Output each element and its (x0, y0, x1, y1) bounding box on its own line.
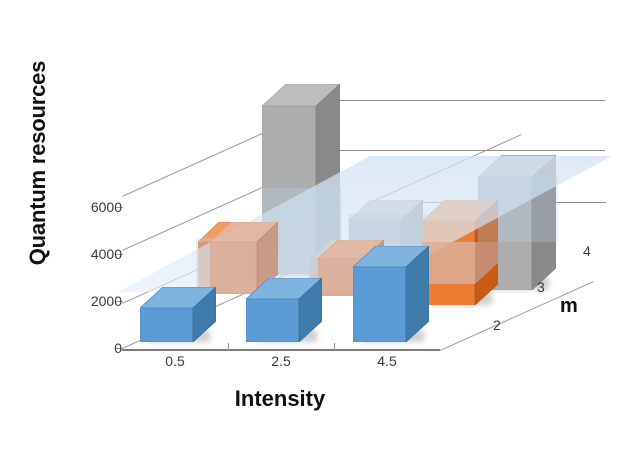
gridline-back-top (320, 100, 605, 101)
xtick-sep-2 (334, 343, 335, 350)
ytick-4000: 4000 (91, 246, 122, 262)
ytick-0: 0 (114, 340, 122, 356)
axis-x-baseline (122, 349, 440, 351)
chart-canvas: 6000 4000 2000 0 0.5 2.5 4.5 2 3 4 Quant… (0, 0, 629, 464)
ytick-2000: 2000 (91, 293, 122, 309)
xtick-sep-1 (228, 343, 229, 350)
xtick-0: 0.5 (145, 353, 205, 369)
bar-geometry (353, 246, 429, 342)
mtick-3: 3 (537, 279, 545, 295)
bar-m1-x2.5 (246, 278, 322, 342)
gridline-back-mid (320, 150, 605, 151)
x-axis-title: Intensity (170, 386, 390, 412)
ytick-6000: 6000 (91, 199, 122, 215)
bar-m2-x4.5-under-plane (422, 242, 498, 284)
z-axis-title: m (560, 295, 578, 318)
mtick-4: 4 (583, 243, 591, 259)
bar-m1-x4.5 (353, 246, 429, 342)
mtick-2: 2 (493, 317, 501, 333)
y-axis-ticks: 6000 4000 2000 0 (60, 0, 122, 464)
bar-geometry (422, 242, 498, 284)
y-axis-title: Quantum resources (25, 53, 51, 273)
xtick-1: 2.5 (251, 353, 311, 369)
bar-m1-x0.5 (140, 287, 216, 342)
bar-geometry (140, 287, 216, 342)
bar-geometry (246, 278, 322, 342)
xtick-2: 4.5 (357, 353, 417, 369)
